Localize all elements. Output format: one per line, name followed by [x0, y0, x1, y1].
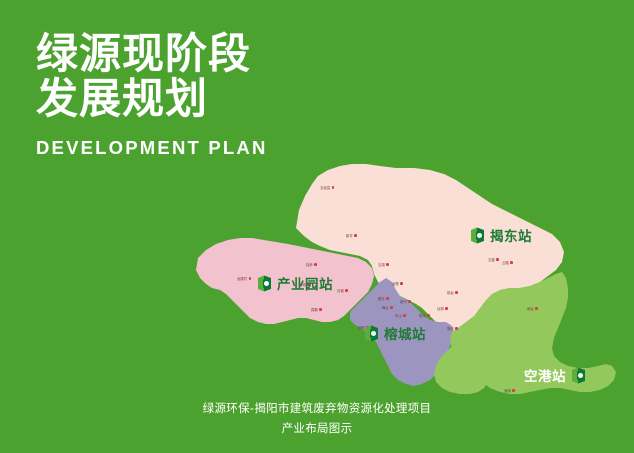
title-line-2: 发展规划	[36, 77, 366, 122]
station-label-chanyeyuan[interactable]: 产业园站	[257, 273, 333, 293]
caption-line-2: 产业布局图示	[0, 418, 634, 438]
town-name: 磐东	[378, 296, 385, 301]
caption-block: 绿源环保-揭阳市建筑废弃物资源化处理项目 产业布局图示	[0, 398, 634, 438]
town-marker: 梅云	[382, 305, 393, 310]
title-block: 绿源现阶段 发展规划 DEVELOPMENT PLAN	[36, 32, 366, 159]
town-name: 玉窖	[488, 257, 495, 262]
town-dot-icon	[445, 307, 448, 310]
town-name: 仙桥	[437, 306, 444, 311]
town-name: 月城	[337, 288, 344, 293]
town-dot-icon	[354, 234, 357, 237]
town-dot-icon	[386, 297, 389, 300]
town-name: 登岗	[447, 326, 454, 331]
town-dot-icon	[455, 291, 458, 294]
green-leaf-d-logo-icon	[364, 325, 379, 342]
town-dot-icon	[512, 389, 515, 392]
green-leaf-d-logo-icon	[571, 367, 586, 384]
station-label-jiedong[interactable]: 揭东站	[470, 225, 532, 245]
town-dot-icon	[427, 314, 430, 317]
town-name: 龙尾村	[237, 276, 247, 281]
town-marker: 砲台	[527, 306, 538, 311]
town-dot-icon	[408, 300, 411, 303]
subtitle-development-plan: DEVELOPMENT PLAN	[36, 137, 366, 159]
town-marker: 龙尾	[392, 281, 403, 286]
town-marker: 霖磐	[311, 307, 322, 312]
station-name: 空港站	[524, 365, 566, 385]
town-marker: 新兴	[400, 299, 411, 304]
town-marker: 五经富	[320, 185, 334, 190]
town-name: 新兴	[400, 299, 407, 304]
station-name: 产业园站	[277, 273, 333, 293]
town-marker: 磐东	[378, 296, 389, 301]
town-dot-icon	[314, 263, 317, 266]
town-marker: 榕华	[419, 313, 430, 318]
town-name: 砲台	[527, 306, 534, 311]
town-name: 渔湖	[504, 388, 511, 393]
town-marker: 龙尾村	[237, 276, 251, 281]
town-marker: 玉窖	[488, 257, 499, 262]
town-marker: 炮台	[447, 290, 458, 295]
station-label-rongcheng[interactable]: 榕城站	[364, 323, 426, 343]
town-marker: 仙桥	[437, 306, 448, 311]
town-name: 五经富	[320, 185, 330, 190]
town-dot-icon	[249, 277, 252, 280]
town-dot-icon	[345, 289, 348, 292]
station-name: 揭东站	[490, 225, 532, 245]
town-marker: 渔湖	[504, 388, 515, 393]
town-name: 霖磐	[311, 307, 318, 312]
town-dot-icon	[510, 261, 513, 264]
station-label-konggang[interactable]: 空港站	[524, 365, 586, 385]
town-name: 中山	[395, 313, 402, 318]
town-marker: 登岗	[447, 326, 458, 331]
town-dot-icon	[535, 307, 538, 310]
town-name: 新亨	[346, 233, 353, 238]
town-dot-icon	[386, 263, 389, 266]
town-marker: 云路	[502, 260, 513, 265]
town-name: 梅云	[382, 305, 389, 310]
town-dot-icon	[496, 258, 499, 261]
title-line-1: 绿源现阶段	[36, 32, 366, 77]
town-name: 云路	[502, 260, 509, 265]
town-marker: 月城	[337, 288, 348, 293]
town-name: 桂岭	[306, 262, 313, 267]
town-name: 榕华	[419, 313, 426, 318]
town-dot-icon	[390, 306, 393, 309]
town-marker: 桂岭	[306, 262, 317, 267]
town-marker: 新亨	[346, 233, 357, 238]
town-dot-icon	[400, 282, 403, 285]
poster-root: 五经富新亨玉湖龙尾云路玉窖桂岭白塔月城霖磐龙尾村磐东梅云新兴中山榕华仙桥地都炮台…	[0, 0, 634, 453]
green-leaf-d-logo-icon	[257, 275, 272, 292]
town-dot-icon	[319, 308, 322, 311]
town-marker: 玉湖	[378, 262, 389, 267]
green-leaf-d-logo-icon	[470, 227, 485, 244]
town-name: 龙尾	[392, 281, 399, 286]
town-name: 炮台	[447, 290, 454, 295]
town-dot-icon	[332, 186, 335, 189]
town-dot-icon	[455, 327, 458, 330]
town-marker: 中山	[395, 313, 406, 318]
station-name: 榕城站	[384, 323, 426, 343]
caption-line-1: 绿源环保-揭阳市建筑废弃物资源化处理项目	[0, 398, 634, 418]
town-name: 玉湖	[378, 262, 385, 267]
town-dot-icon	[403, 314, 406, 317]
